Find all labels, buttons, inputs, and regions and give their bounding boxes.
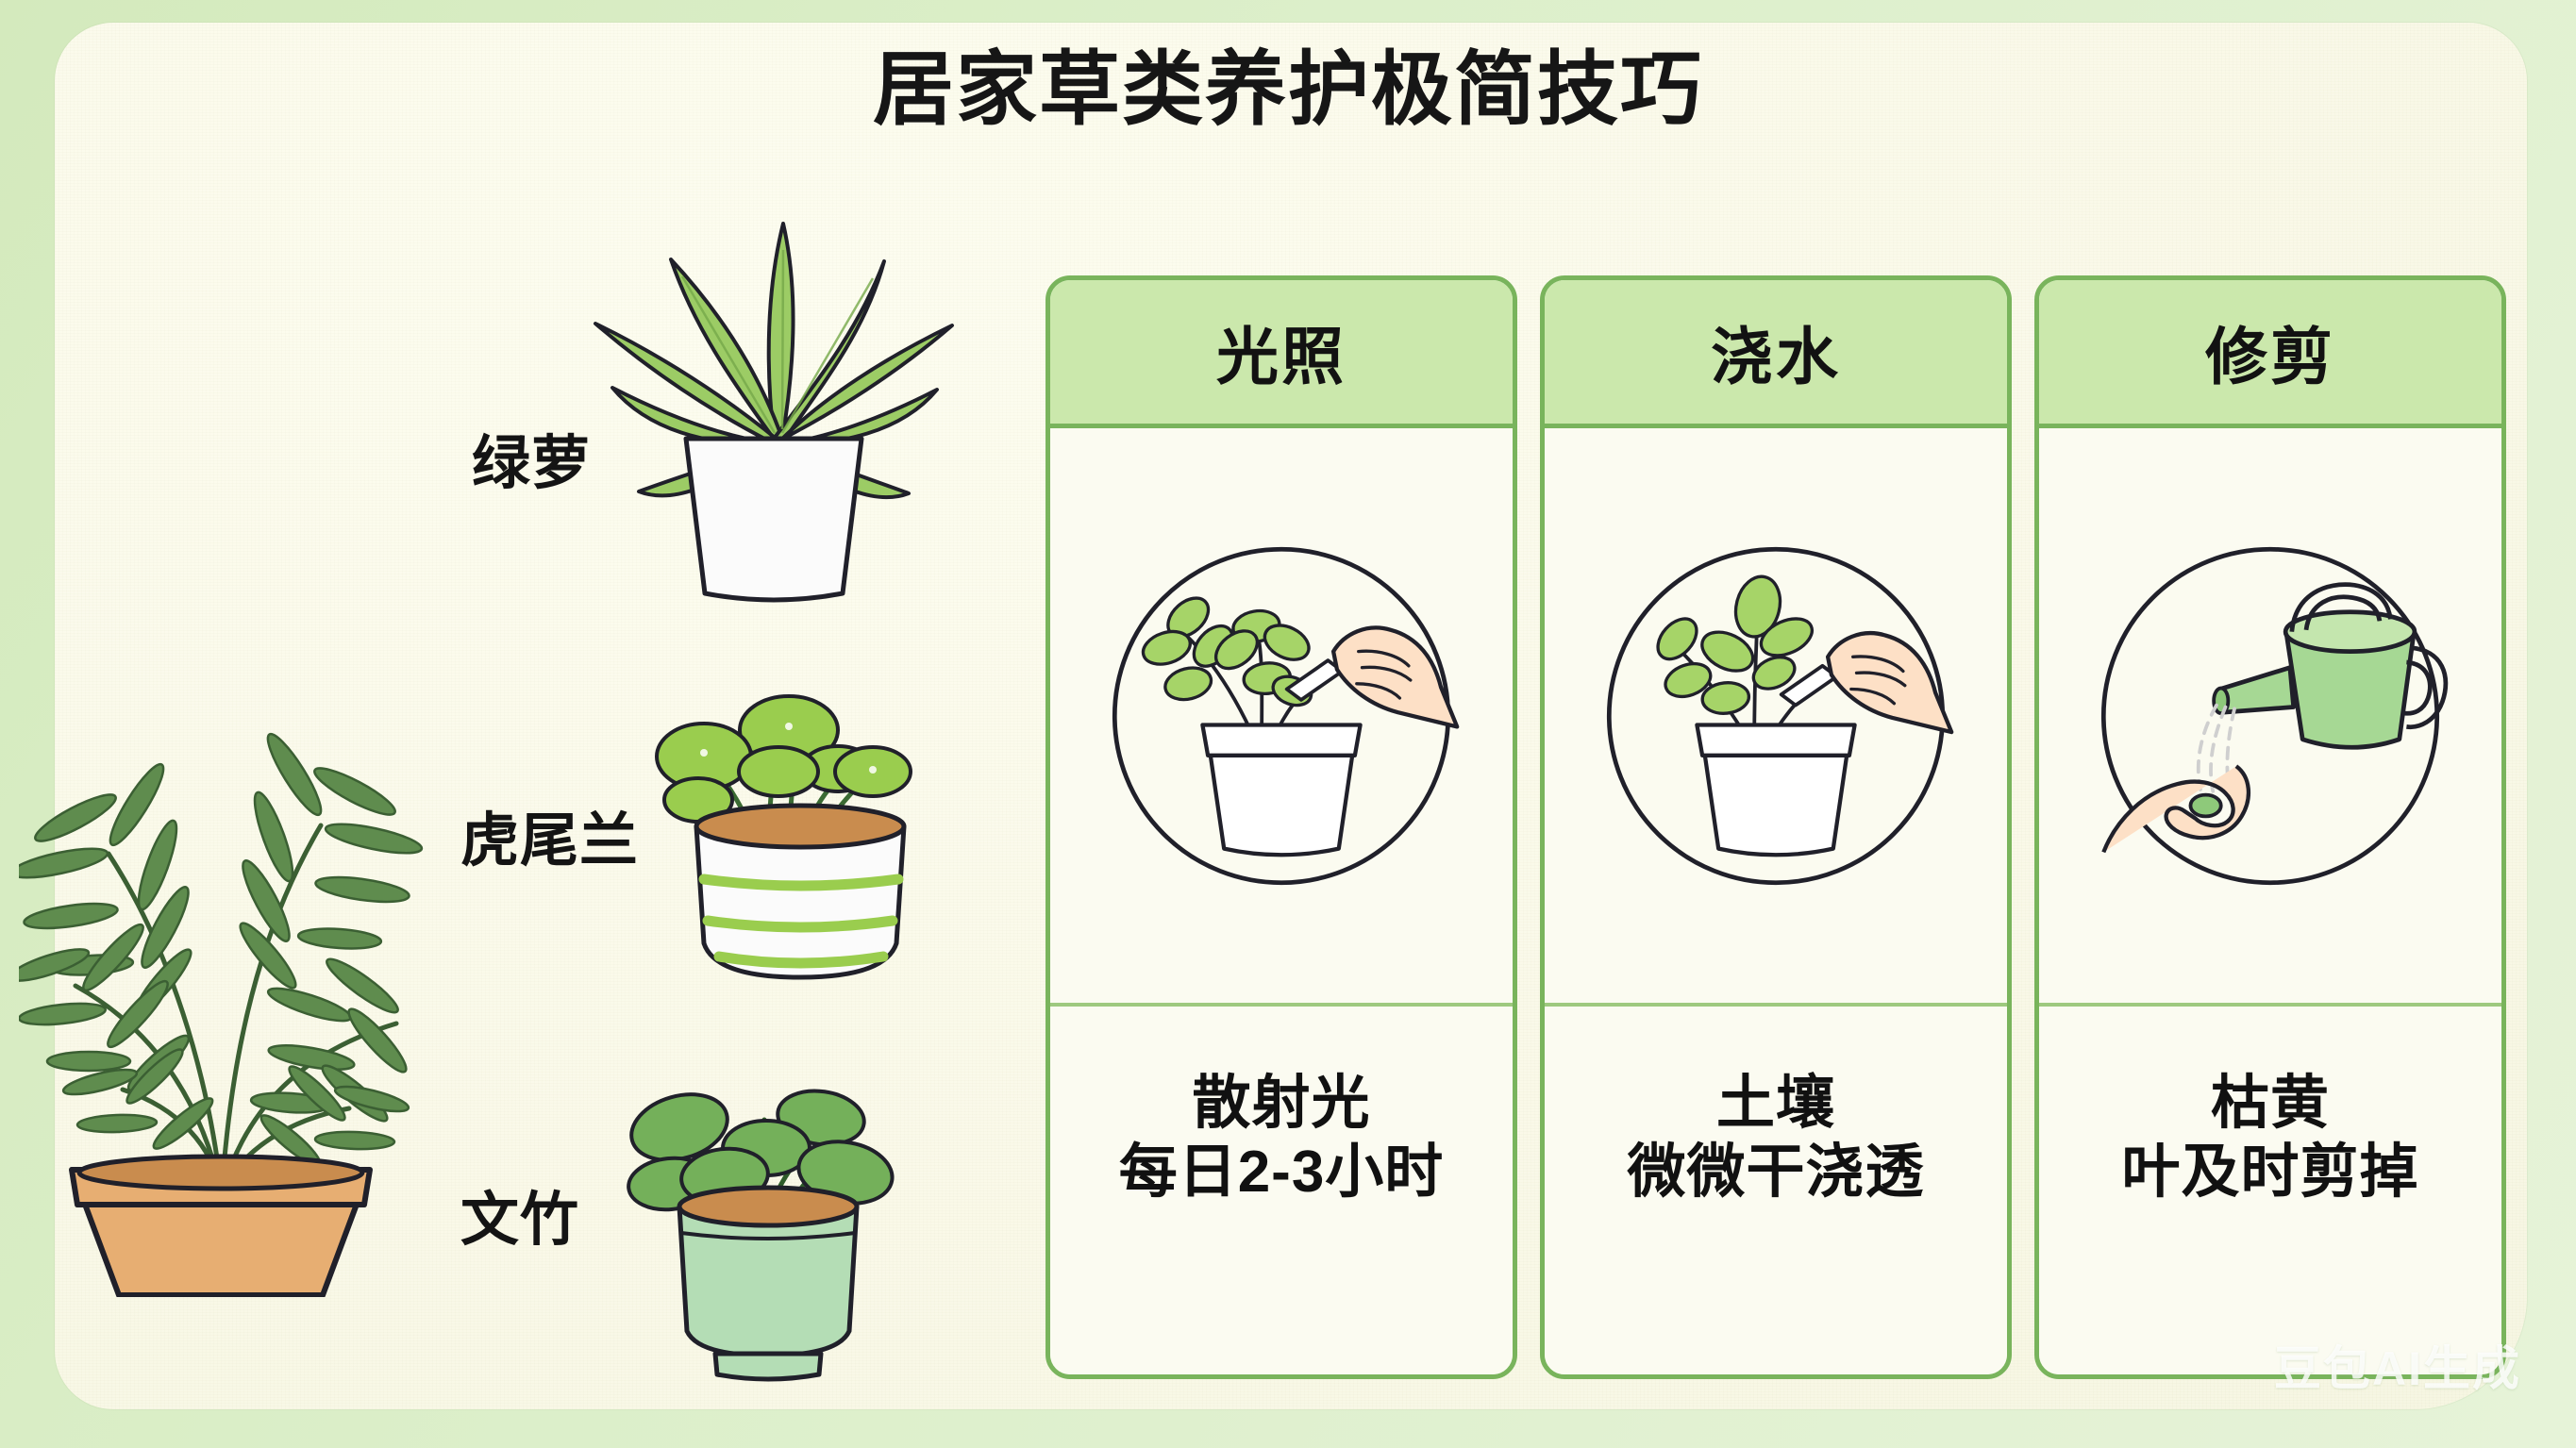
card-header-light: 光照	[1050, 280, 1513, 428]
pilea-mint-pot-illustration	[611, 1014, 932, 1382]
card-header-label: 浇水	[1711, 307, 1841, 397]
card-illustration-watering	[1545, 428, 2007, 1007]
card-illustration-light	[1050, 428, 1513, 1007]
card-line2: 微微干浇透	[1627, 1138, 1924, 1207]
page-title: 居家草类养护极简技巧	[0, 49, 2576, 130]
watermark: 豆包AI生成	[2274, 1331, 2521, 1399]
care-cards-row: 光照	[1045, 275, 2506, 1379]
plant-label-lvluo: 绿萝	[472, 415, 591, 500]
canvas-background: 居家草类养护极简技巧	[0, 0, 2576, 1448]
plant-label-wenzhu: 文竹	[460, 1172, 579, 1257]
pilea-striped-pot-illustration	[642, 632, 962, 990]
care-card-pruning[interactable]: 修剪	[2034, 275, 2506, 1379]
card-illustration-pruning	[2039, 428, 2501, 1007]
card-line1: 土壤	[1716, 1071, 1835, 1136]
parlor-palm-illustration	[19, 542, 425, 1297]
hand-pruning-plant-icon	[1597, 537, 1955, 895]
watering-can-icon	[2091, 537, 2450, 895]
card-line1: 枯黄	[2211, 1071, 2330, 1136]
card-line2: 叶及时剪掉	[2121, 1138, 2418, 1207]
card-header-watering: 浇水	[1545, 280, 2007, 428]
care-card-watering[interactable]: 浇水	[1540, 275, 2012, 1379]
spider-plant-illustration	[580, 203, 967, 608]
card-header-label: 修剪	[2205, 307, 2335, 397]
card-footer-pruning: 枯黄 叶及时剪掉	[2039, 1007, 2501, 1374]
care-card-light[interactable]: 光照	[1045, 275, 1517, 1379]
card-footer-watering: 土壤 微微干浇透	[1545, 1007, 2007, 1374]
card-line2: 每日2-3小时	[1119, 1138, 1445, 1207]
card-line1: 散射光	[1192, 1071, 1370, 1136]
card-header-pruning: 修剪	[2039, 280, 2501, 428]
card-footer-light: 散射光 每日2-3小时	[1050, 1007, 1513, 1374]
plant-label-huweilan: 虎尾兰	[460, 792, 639, 877]
hand-pruning-plant-icon	[1102, 537, 1461, 895]
card-header-label: 光照	[1216, 307, 1347, 397]
